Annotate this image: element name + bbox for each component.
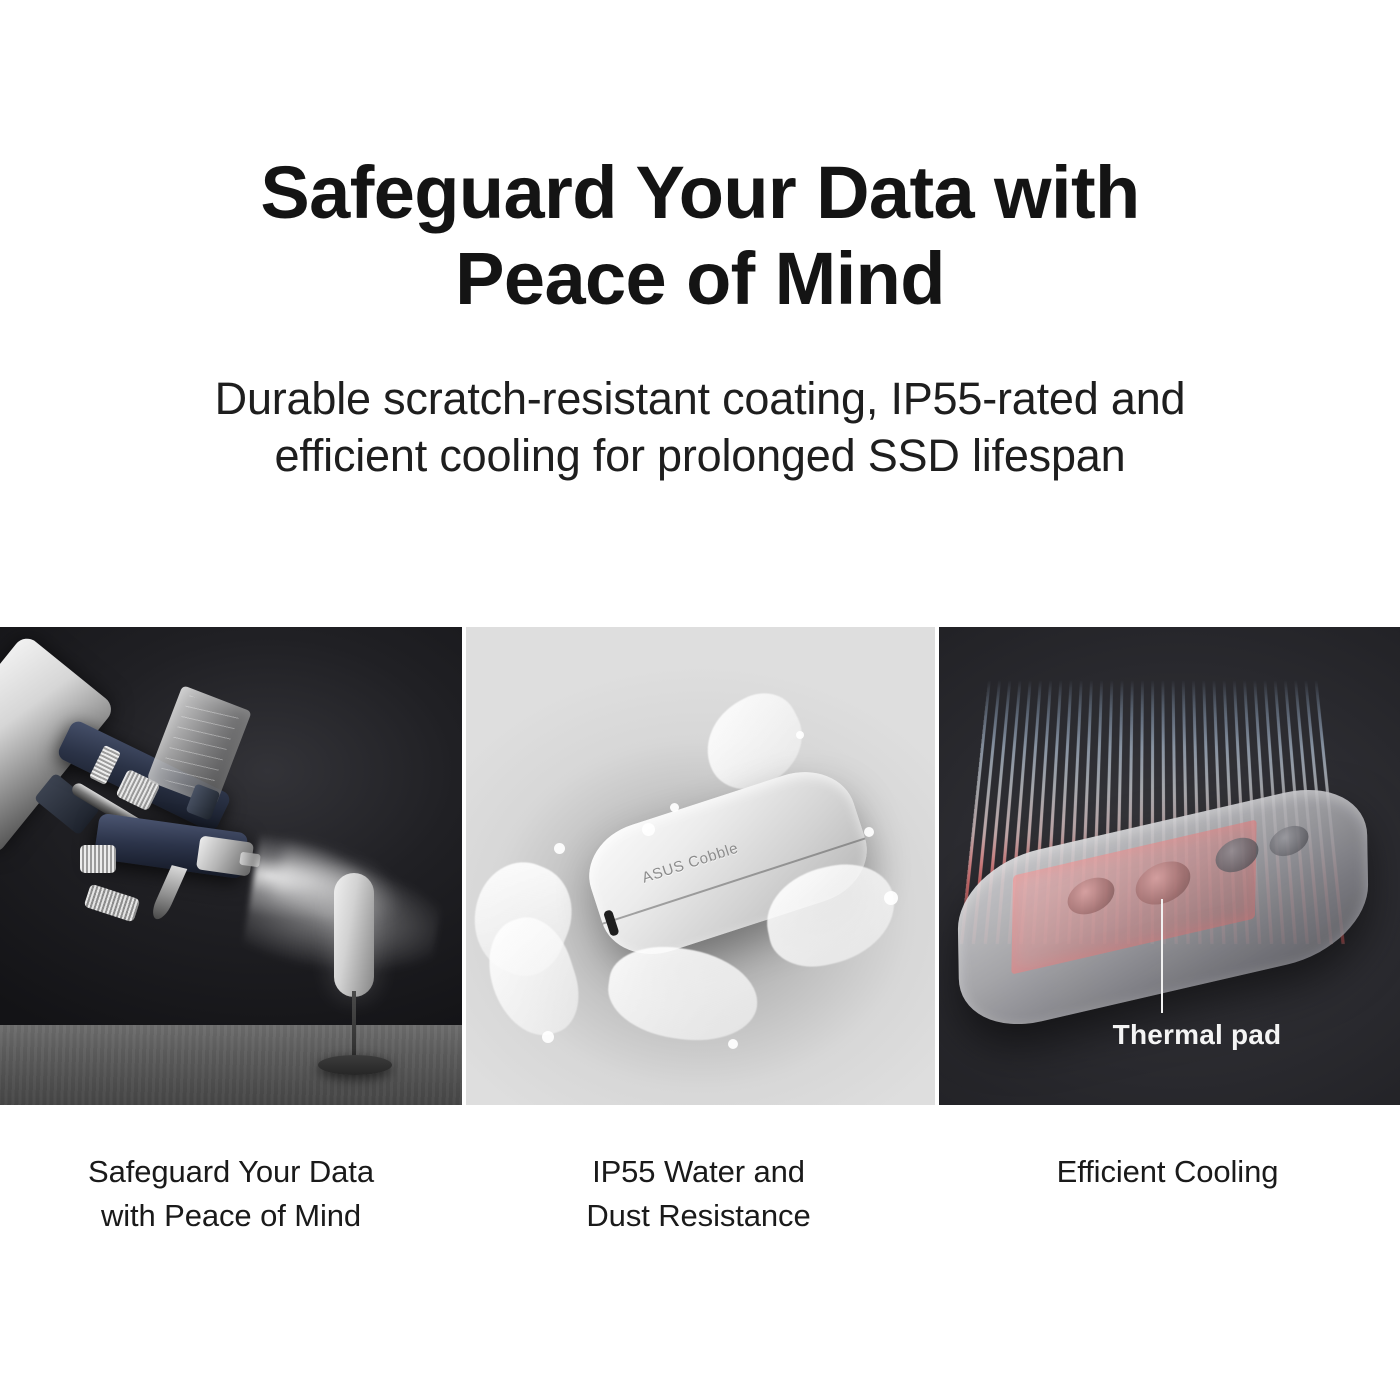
water-droplet [728, 1039, 738, 1049]
water-droplet [670, 803, 679, 812]
header: Safeguard Your Data with Peace of Mind D… [0, 0, 1400, 484]
display-stand-base [318, 1055, 392, 1075]
feature-image-coating [0, 627, 462, 1105]
caption-row: Safeguard Your Data with Peace of Mind I… [0, 1150, 1400, 1238]
water-droplet [554, 843, 565, 854]
annotation-leader-line [1161, 899, 1163, 1013]
water-droplet [864, 827, 874, 837]
feature-image-cooling: Thermal pad [939, 627, 1400, 1105]
caption-cooling: Efficient Cooling [935, 1150, 1400, 1238]
display-stand-rod [352, 991, 356, 1065]
water-droplet [542, 1031, 554, 1043]
water-droplet [796, 731, 804, 739]
caption-coating: Safeguard Your Data with Peace of Mind [0, 1150, 462, 1238]
page-subtitle: Durable scratch-resistant coating, IP55-… [85, 370, 1315, 484]
device-brand-logo: ASUS Cobble [640, 840, 741, 887]
ssd-device-on-stand [334, 873, 374, 997]
water-droplet [884, 891, 898, 905]
water-droplet [642, 823, 655, 836]
feature-image-strip: ASUS Cobble Thermal pad [0, 627, 1400, 1105]
thermal-pad-label: Thermal pad [1057, 1019, 1337, 1051]
studio-floor [0, 1025, 462, 1105]
spray-gun-knob-front [80, 845, 116, 873]
caption-water-dust: IP55 Water and Dust Resistance [462, 1150, 935, 1238]
page-title: Safeguard Your Data with Peace of Mind [180, 150, 1220, 322]
feature-image-water-dust: ASUS Cobble [466, 627, 935, 1105]
